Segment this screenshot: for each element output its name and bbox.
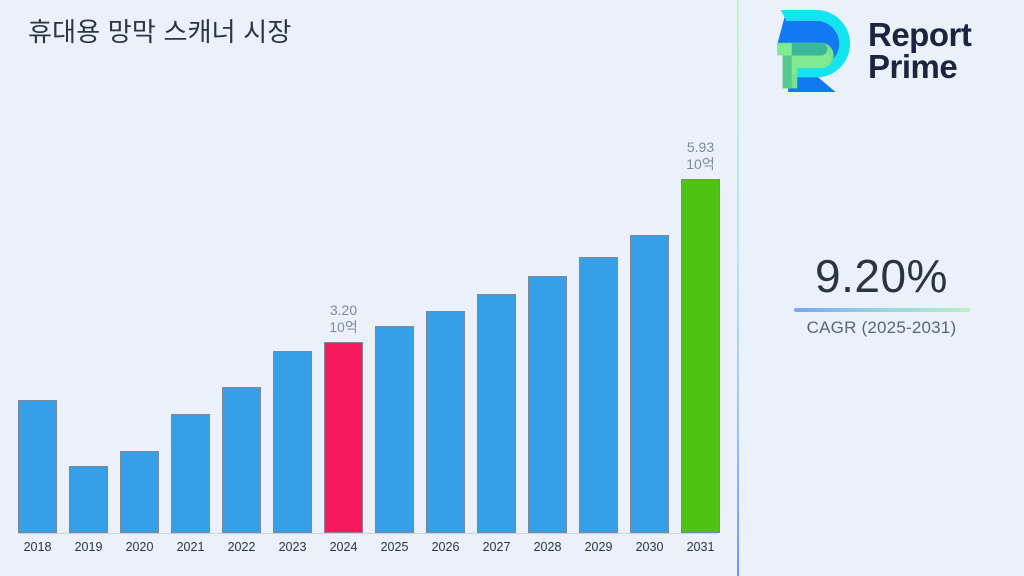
bar-2031[interactable] bbox=[681, 179, 720, 533]
bar-2019[interactable] bbox=[69, 466, 108, 533]
cagr-divider-rule bbox=[794, 308, 970, 312]
bar-2030[interactable] bbox=[630, 235, 669, 533]
x-axis-tick-2025: 2025 bbox=[375, 540, 414, 554]
brand-logo: Report Prime bbox=[764, 10, 971, 92]
bar-2024[interactable] bbox=[324, 342, 363, 533]
x-axis-tick-2026: 2026 bbox=[426, 540, 465, 554]
bar-series: 2018201920202021202220233.2010억202420252… bbox=[0, 0, 738, 576]
x-axis-tick-2029: 2029 bbox=[579, 540, 618, 554]
x-axis-tick-2030: 2030 bbox=[630, 540, 669, 554]
bar-value-label-number: 5.93 bbox=[687, 139, 714, 155]
bar-group-2029[interactable] bbox=[579, 257, 618, 533]
side-panel: Report Prime 9.20% CAGR (2025-2031) bbox=[739, 0, 1024, 576]
brand-logo-line2: Prime bbox=[868, 51, 971, 83]
chart-panel: 휴대용 망막 스캐너 시장 2018201920202021202220233.… bbox=[0, 0, 738, 576]
bar-2020[interactable] bbox=[120, 451, 159, 533]
cagr-caption: CAGR (2025-2031) bbox=[739, 318, 1024, 338]
bar-2022[interactable] bbox=[222, 387, 261, 533]
bar-group-2022[interactable] bbox=[222, 387, 261, 533]
x-axis-tick-2021: 2021 bbox=[171, 540, 210, 554]
x-axis-tick-2031: 2031 bbox=[681, 540, 720, 554]
bar-group-2019[interactable] bbox=[69, 466, 108, 533]
bar-group-2025[interactable] bbox=[375, 326, 414, 533]
x-axis-tick-2028: 2028 bbox=[528, 540, 567, 554]
bar-group-2027[interactable] bbox=[477, 294, 516, 533]
x-axis-tick-2019: 2019 bbox=[69, 540, 108, 554]
x-axis-tick-2020: 2020 bbox=[120, 540, 159, 554]
cagr-value: 9.20% bbox=[739, 252, 1024, 300]
brand-logo-text: Report Prime bbox=[868, 19, 971, 82]
report-prime-logo-mark-icon bbox=[764, 10, 856, 92]
bar-2026[interactable] bbox=[426, 311, 465, 533]
bar-2018[interactable] bbox=[18, 400, 57, 533]
bar-group-2018[interactable] bbox=[18, 400, 57, 533]
bar-group-2031[interactable]: 5.9310억 bbox=[681, 179, 720, 533]
bar-2028[interactable] bbox=[528, 276, 567, 533]
bar-value-label-number: 3.20 bbox=[330, 302, 357, 318]
bar-2023[interactable] bbox=[273, 351, 312, 533]
bar-group-2030[interactable] bbox=[630, 235, 669, 533]
bar-group-2020[interactable] bbox=[120, 451, 159, 533]
bar-group-2021[interactable] bbox=[171, 414, 210, 533]
bar-2021[interactable] bbox=[171, 414, 210, 533]
bar-value-label-2024: 3.2010억 bbox=[329, 302, 357, 336]
x-axis-tick-2023: 2023 bbox=[273, 540, 312, 554]
bar-group-2024[interactable]: 3.2010억 bbox=[324, 342, 363, 533]
bar-2027[interactable] bbox=[477, 294, 516, 533]
bar-group-2026[interactable] bbox=[426, 311, 465, 533]
x-axis-tick-2024: 2024 bbox=[324, 540, 363, 554]
x-axis-tick-2018: 2018 bbox=[18, 540, 57, 554]
bar-value-label-2031: 5.9310억 bbox=[686, 139, 714, 173]
bar-value-label-unit: 10억 bbox=[329, 319, 357, 336]
bar-group-2023[interactable] bbox=[273, 351, 312, 533]
bar-group-2028[interactable] bbox=[528, 276, 567, 533]
bar-2025[interactable] bbox=[375, 326, 414, 533]
bar-chart-plot: 2018201920202021202220233.2010억202420252… bbox=[0, 0, 738, 576]
bar-2029[interactable] bbox=[579, 257, 618, 533]
x-axis-tick-2022: 2022 bbox=[222, 540, 261, 554]
cagr-block: 9.20% CAGR (2025-2031) bbox=[739, 252, 1024, 338]
bar-value-label-unit: 10억 bbox=[686, 156, 714, 173]
x-axis-tick-2027: 2027 bbox=[477, 540, 516, 554]
